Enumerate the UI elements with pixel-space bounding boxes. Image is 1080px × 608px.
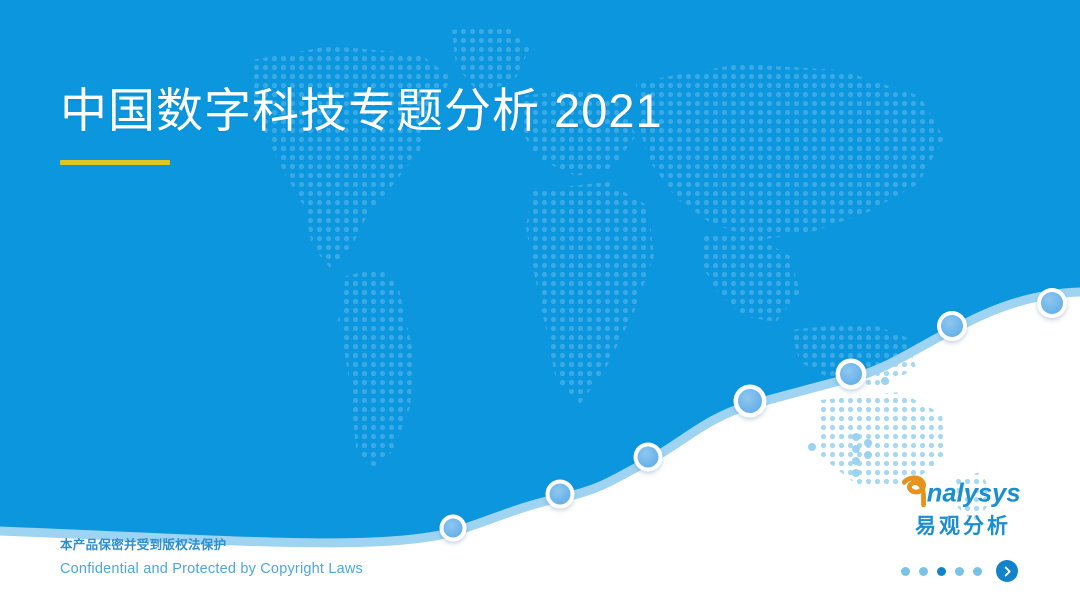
trend-marker <box>937 311 967 341</box>
title-accent-rule <box>60 160 170 165</box>
trend-marker <box>1037 288 1067 318</box>
pagination-dot-5[interactable] <box>973 567 982 576</box>
trend-marker <box>734 385 767 418</box>
logo-wordmark-text: nalysys <box>927 480 1021 508</box>
logo-chinese-name: 易观分析 <box>898 510 1028 540</box>
logo-wordmark-icon: nalysys <box>899 473 1027 509</box>
trend-marker <box>836 359 867 390</box>
confidential-notice-en: Confidential and Protected by Copyright … <box>60 558 363 580</box>
chevron-right-icon <box>1002 566 1013 577</box>
confidential-notice-cn: 本产品保密并受到版权法保护 <box>60 536 363 555</box>
confidential-notice: 本产品保密并受到版权法保护 Confidential and Protected… <box>60 536 363 580</box>
page-title: 中国数字科技专题分析 2021 <box>60 82 960 141</box>
trend-marker <box>546 480 575 509</box>
pagination-dot-2[interactable] <box>919 567 928 576</box>
title-block: 中国数字科技专题分析 2021 <box>60 82 960 165</box>
trend-marker <box>440 515 467 542</box>
pagination-dot-1[interactable] <box>901 567 910 576</box>
pagination <box>901 560 1018 582</box>
logo-wordmark: nalysys <box>898 473 1028 509</box>
analysys-logo: nalysys 易观分析 <box>898 473 1028 540</box>
pagination-dot-4[interactable] <box>955 567 964 576</box>
slide-canvas: 中国数字科技专题分析 2021 本产品保密并受到版权法保护 Confidenti… <box>0 0 1080 608</box>
trend-marker <box>634 443 663 472</box>
pagination-dot-3[interactable] <box>937 567 946 576</box>
next-slide-button[interactable] <box>996 560 1018 582</box>
